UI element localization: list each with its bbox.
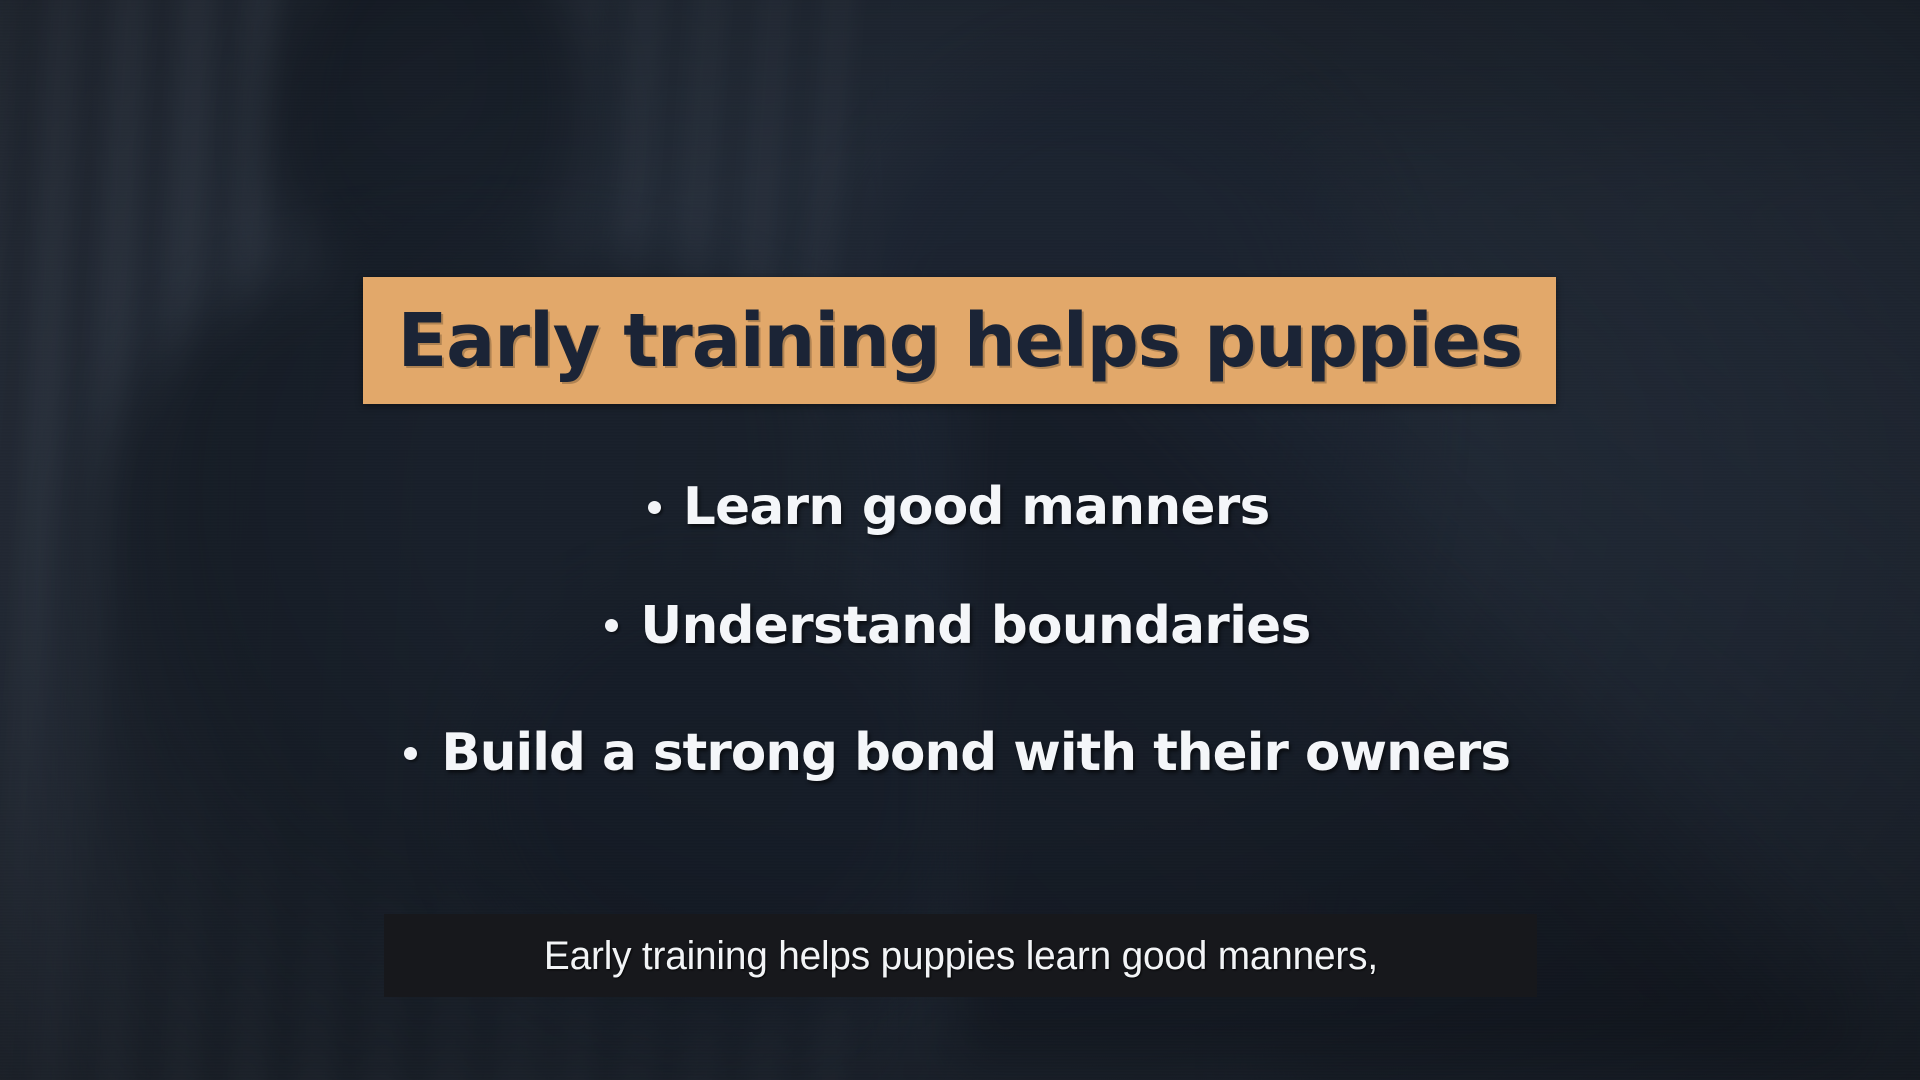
- slide-content: Early training helps puppies Learn good …: [0, 0, 1920, 1080]
- bullet-item-1: Learn good manners: [0, 455, 1920, 559]
- bullet-dot-icon: [648, 501, 661, 514]
- caption-bar: Early training helps puppies learn good …: [384, 914, 1537, 997]
- bullet-item-2: Understand boundaries: [0, 559, 1920, 692]
- bullet-list: Learn good manners Understand boundaries…: [0, 455, 1920, 814]
- bullet-dot-icon: [605, 619, 618, 632]
- title-highlight-banner: Early training helps puppies: [363, 277, 1556, 404]
- bullet-item-2-label: Understand boundaries: [641, 600, 1311, 652]
- caption-text: Early training helps puppies learn good …: [543, 936, 1377, 976]
- slide-title: Early training helps puppies: [397, 304, 1521, 378]
- bullet-item-3-label: Build a strong bond with their owners: [442, 727, 1511, 779]
- video-slide-frame: Early training helps puppies Learn good …: [0, 0, 1920, 1080]
- bullet-item-1-label: Learn good manners: [683, 481, 1270, 533]
- bullet-dot-icon: [404, 747, 417, 760]
- bullet-item-3: Build a strong bond with their owners: [0, 692, 1920, 814]
